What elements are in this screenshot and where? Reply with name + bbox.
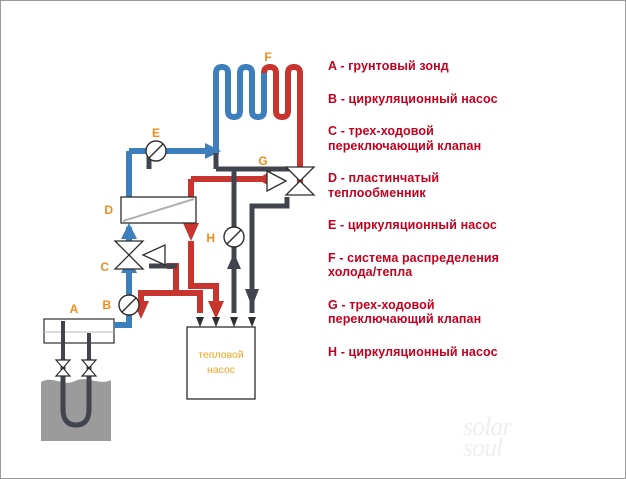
probe-valve-right[interactable] [82, 360, 96, 376]
watermark-logo: solar soul [463, 416, 573, 464]
legend-item-b: B - циркуляционный насос [328, 92, 618, 107]
red-arrow-into-heatpump-1 [208, 301, 224, 319]
ground-probe-manifold [44, 319, 114, 343]
legend-c-line1: C - трех-ходовой [328, 124, 434, 138]
legend-h-line1: H - циркуляционный насос [328, 345, 498, 359]
ground-soil-area [41, 379, 111, 441]
label-b: B [102, 298, 111, 312]
blue-arrow-to-exchanger [121, 223, 137, 239]
coil-cold-half [216, 67, 264, 117]
label-a: A [70, 302, 79, 316]
diagram-frame: A F [0, 0, 626, 479]
label-c: C [100, 260, 109, 274]
legend-item-h: H - циркуляционный насос [328, 345, 618, 360]
legend-item-c: C - трех-ходовой переключающий клапан [328, 124, 618, 153]
legend-item-e: E - циркуляционный насос [328, 218, 618, 233]
red-arrow-into-exchanger [183, 223, 199, 241]
legend-g-line2: переключающий клапан [328, 312, 618, 327]
legend-item-g: G - трех-ходовой переключающий клапан [328, 298, 618, 327]
label-h: H [206, 231, 215, 245]
probe-valve-left[interactable] [56, 360, 70, 376]
label-g: G [258, 154, 267, 168]
circulation-pump-b[interactable] [119, 295, 139, 315]
legend-item-a: A - грунтовый зонд [328, 59, 618, 74]
legend-d-line2: теплообменник [328, 186, 618, 201]
heat-pump-label-line2: насос [207, 364, 235, 376]
heat-pump-label-line1: тепловой [198, 349, 244, 361]
red-pipe-to-heatpump-2 [176, 293, 200, 313]
heatpump-connectors [196, 317, 256, 327]
legend-item-f: F - система распределения холода/тепла [328, 251, 618, 280]
label-d: D [104, 203, 113, 217]
legend-d-line1: D - пластинчатый [328, 171, 439, 185]
legend-list: A - грунтовый зонд B - циркуляционный на… [328, 59, 618, 377]
watermark-line2: soul [463, 437, 573, 458]
legend-c-line2: переключающий клапан [328, 139, 618, 154]
red-pipe-exchanger-to-pump [191, 241, 216, 311]
gray-arrow-into-heatpump [245, 289, 259, 307]
legend-item-d: D - пластинчатый теплообменник [328, 171, 618, 200]
legend-f-line1: F - система распределения [328, 251, 499, 265]
circulation-pump-e[interactable] [146, 141, 166, 161]
legend-b-line1: B - циркуляционный насос [328, 92, 498, 106]
gray-arrow-up [227, 253, 241, 269]
hvac-schematic: A F [1, 1, 321, 478]
red-pipe-valve-c-branch [141, 266, 176, 306]
circulation-pump-h[interactable] [224, 227, 244, 247]
legend-f-line2: холода/тепла [328, 265, 618, 280]
label-e: E [152, 126, 160, 140]
legend-a-line1: A - грунтовый зонд [328, 59, 449, 73]
label-f: F [264, 50, 271, 64]
legend-g-line1: G - трех-ходовой [328, 298, 435, 312]
gray-pipe-g-to-heatpump [252, 197, 287, 313]
heat-pump-unit [187, 327, 255, 399]
legend-e-line1: E - циркуляционный насос [328, 218, 497, 232]
